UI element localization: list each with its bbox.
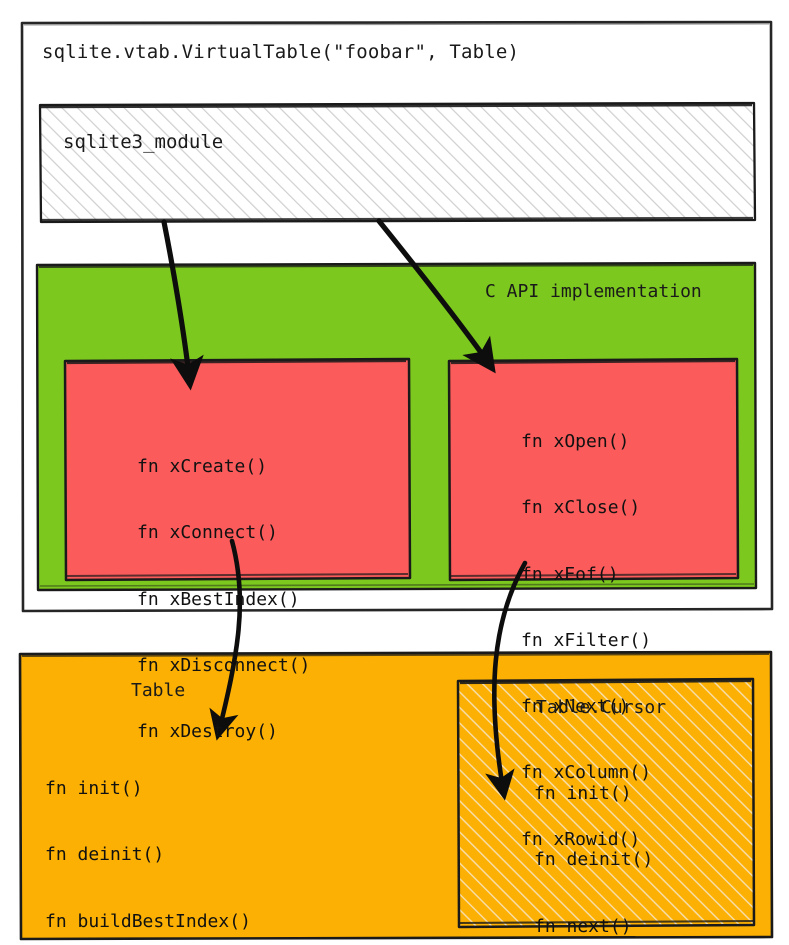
c-api-implementation-label: C API implementation (485, 283, 702, 301)
sqlite3-module-label: sqlite3_module (63, 133, 223, 152)
list-item: fn xOpen() (521, 430, 651, 454)
list-item: fn xConnect() (137, 521, 310, 545)
table-cursor-function-list: fn init() fn deinit() fn next() fn hasNe… (534, 740, 664, 945)
table-function-list: fn init() fn deinit() fn buildBestIndex(… (45, 735, 251, 945)
table-label: Table (131, 682, 185, 700)
list-item: fn xClose() (521, 496, 651, 520)
c-api-table-function-list: fn xCreate() fn xConnect() fn xBestIndex… (137, 413, 310, 786)
list-item: fn xEof() (521, 563, 651, 587)
list-item: fn xFilter() (521, 629, 651, 653)
diagram-canvas: sqlite.vtab.VirtualTable("foobar", Table… (0, 0, 789, 945)
list-item: fn deinit() (534, 848, 664, 872)
list-item: fn deinit() (45, 843, 251, 867)
page-title: sqlite.vtab.VirtualTable("foobar", Table… (42, 43, 519, 62)
list-item: fn init() (45, 777, 251, 801)
list-item: fn xDisconnect() (137, 654, 310, 678)
table-cursor-label: Table.Cursor (536, 699, 666, 717)
list-item: fn next() (534, 915, 664, 939)
list-item: fn xCreate() (137, 455, 310, 479)
list-item: fn xBestIndex() (137, 588, 310, 612)
list-item: fn buildBestIndex() (45, 910, 251, 934)
sqlite3-module-box (40, 103, 755, 222)
list-item: fn init() (534, 782, 664, 806)
